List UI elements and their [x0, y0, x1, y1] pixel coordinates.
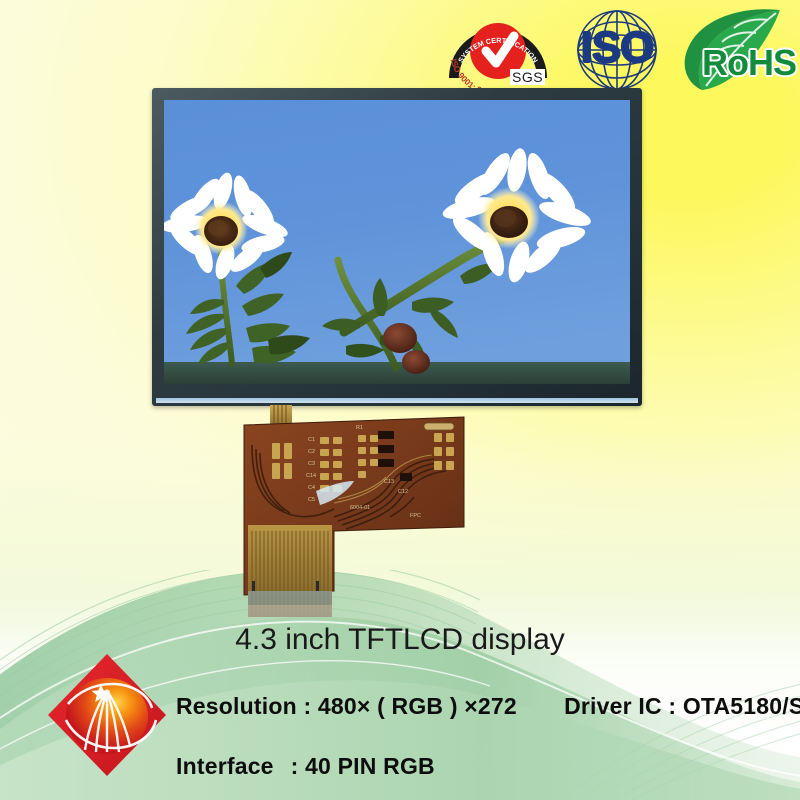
fpc-flex-board: C1C2C3 C14C4C5 R1C13C12 6004-01FPC [238, 405, 470, 620]
certification-logo-group: SYSTEM CERTIFICATION ISO 9001: 2000 SGS [448, 4, 796, 96]
iso-logo: ISO [561, 6, 673, 94]
sgs-brand-label: SGS [510, 69, 545, 85]
svg-text:6004-01: 6004-01 [350, 505, 370, 511]
lcd-screen-image [164, 100, 630, 384]
lcd-screen-bezel-inner [164, 100, 630, 384]
spec-row-resolution-driver: Resolution : 480× ( RGB ) ×272 Driver IC… [176, 693, 800, 720]
spec-value-resolution: 480× ( RGB ) ×272 [318, 693, 517, 719]
spec-label-resolution: Resolution [176, 693, 297, 719]
spec-label-interface: Interface [176, 753, 284, 780]
tft-lcd-module [152, 88, 642, 406]
svg-text:C2: C2 [308, 449, 315, 455]
rohs-brand-label: RoHS [702, 44, 796, 82]
product-image-canvas: SYSTEM CERTIFICATION ISO 9001: 2000 SGS [0, 0, 800, 800]
spec-row-interface: Interface : 40 PIN RGB [176, 753, 435, 780]
spec-value-driver-ic: OTA5180/ST7282 [683, 693, 800, 719]
spec-value-interface: 40 PIN RGB [305, 753, 435, 779]
svg-text:C5: C5 [308, 497, 315, 503]
svg-text:C13: C13 [384, 479, 394, 485]
svg-text:C14: C14 [306, 473, 316, 479]
svg-text:C12: C12 [398, 489, 408, 495]
svg-text:C4: C4 [308, 485, 315, 491]
lcd-bottom-edge-strip [156, 398, 638, 403]
company-logo [44, 650, 170, 780]
svg-text:C1: C1 [308, 437, 315, 443]
spec-sep-resolution: : [303, 693, 311, 719]
rohs-logo: RoHS [676, 4, 798, 96]
spec-sep-driver-ic: : [668, 693, 676, 719]
svg-text:R1: R1 [356, 425, 363, 431]
product-title: 4.3 inch TFTLCD display [0, 623, 800, 657]
iso-brand-label: ISO [561, 22, 673, 74]
spec-label-driver-ic: Driver IC [564, 693, 662, 719]
spec-sep-interface: : [291, 753, 299, 779]
sgs-iso9001-logo: SYSTEM CERTIFICATION ISO 9001: 2000 SGS [448, 6, 556, 94]
svg-text:FPC: FPC [410, 513, 421, 519]
svg-text:C3: C3 [308, 461, 315, 467]
